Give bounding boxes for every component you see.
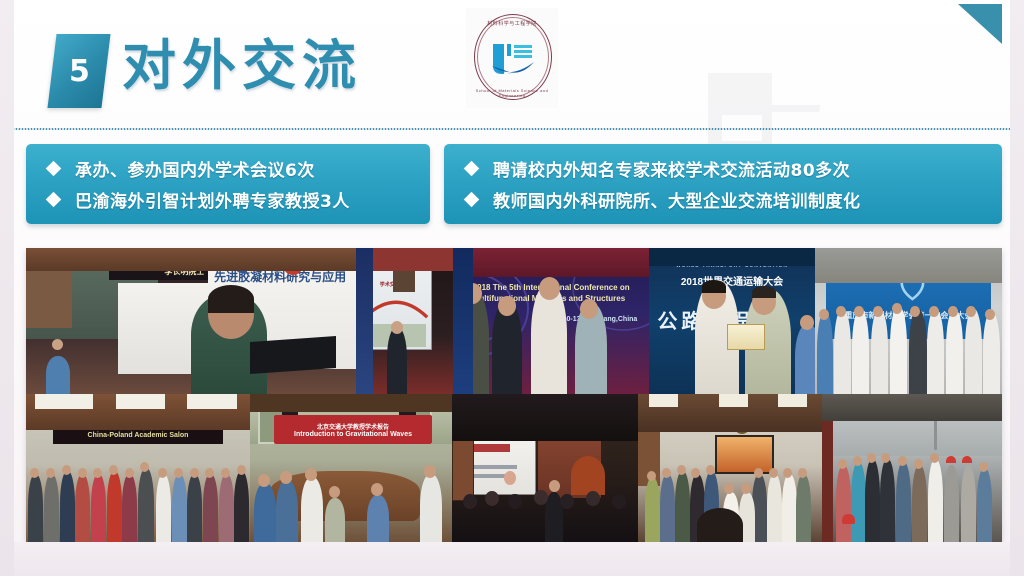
photo-site-visit-group: [822, 394, 1002, 542]
bullet-text: 聘请校内外知名专家来校学术交流活动80多次: [493, 156, 850, 181]
diamond-bullet-icon: [46, 161, 62, 177]
bullet-text: 教师国内外科研院所、大型企业交流培训制度化: [493, 187, 861, 212]
logo-text-chinese: 材料科学与工程学院: [466, 20, 558, 27]
photo-podium-presentation: 学术交流报告: [356, 248, 453, 394]
bullet-text: 承办、参办国内外学术会议6次: [75, 156, 315, 181]
bullet-text: 巴渝海外引智计划外聘专家教授3人: [75, 187, 350, 212]
photo-banner-text: 2018世界交通运输大会: [662, 271, 801, 289]
bullet-row: 教师国内外科研院所、大型企业交流培训制度化: [466, 184, 1002, 215]
photo-banner-text: 北京交通大学教授学术报告: [317, 422, 389, 431]
photo-gallery: 李长明院士 先进胶凝材料研究与应用 学术交流报告: [26, 248, 1002, 542]
slide-header: 5 对外交流 材料科学与工程学院 School of Materials Sci…: [0, 0, 1024, 128]
photo-china-poland-salon: 中国 - 波兰学术沙龙 China-Poland Academic Salon: [26, 394, 250, 542]
diamond-bullet-icon: [464, 192, 480, 208]
photo-gravitational-waves-seminar: 北京交通大学教授学术报告 Introduction to Gravitation…: [250, 394, 452, 542]
page-bottom-strip: [0, 542, 1024, 576]
photo-row-2: 中国 - 波兰学术沙龙 China-Poland Academic Salon: [26, 394, 1002, 542]
diamond-bullet-icon: [46, 192, 62, 208]
photo-wtc-2018-award: WORLD TRANSPORT CONVENTION 2018世界交通运输大会 …: [649, 248, 815, 394]
photo-auditorium-lecture: [452, 394, 638, 542]
bullet-panel-right: 聘请校内外知名专家来校学术交流活动80多次 教师国内外科研院所、大型企业交流培训…: [444, 144, 1002, 224]
photo-row-1: 李长明院士 先进胶凝材料研究与应用 学术交流报告: [26, 248, 1002, 394]
photo-banner-container: 北京交通大学教授学术报告 Introduction to Gravitation…: [274, 415, 432, 445]
photo-meeting-room-group: [638, 394, 822, 542]
school-logo: 材料科学与工程学院 School of Materials Science an…: [466, 8, 558, 108]
header-divider: [0, 128, 1024, 130]
photo-chongqing-society-group: 重庆市新型材料学会第一次会员大会: [815, 248, 1002, 394]
page-title: 对外交流: [122, 30, 362, 102]
photo-banner-sub: China-Poland Academic Salon: [88, 432, 189, 439]
bullet-panels: 承办、参办国内外学术会议6次 巴渝海外引智计划外聘专家教授3人 聘请校内外知名专…: [0, 144, 1024, 232]
bullet-row: 承办、参办国内外学术会议6次: [48, 153, 430, 184]
page-right-gutter: [1010, 0, 1024, 576]
photo-banner-sub: Introduction to Gravitational Waves: [294, 431, 412, 438]
photo-lecture-li-changming: 李长明院士 先进胶凝材料研究与应用: [26, 248, 356, 394]
photo-mfms-2018-group: MFMS 2018 The 5th International Conferen…: [453, 248, 649, 394]
bullet-row: 巴渝海外引智计划外聘专家教授3人: [48, 184, 430, 215]
diamond-bullet-icon: [464, 161, 480, 177]
bullet-panel-left: 承办、参办国内外学术会议6次 巴渝海外引智计划外聘专家教授3人: [26, 144, 430, 224]
bullet-row: 聘请校内外知名专家来校学术交流活动80多次: [466, 153, 1002, 184]
logo-wave-icon: [490, 36, 536, 78]
section-number-badge: 5: [47, 34, 110, 108]
page-left-gutter: [0, 0, 14, 576]
section-number-text: 5: [69, 54, 90, 89]
logo-text-english: School of Materials Science and Engineer…: [466, 88, 558, 98]
